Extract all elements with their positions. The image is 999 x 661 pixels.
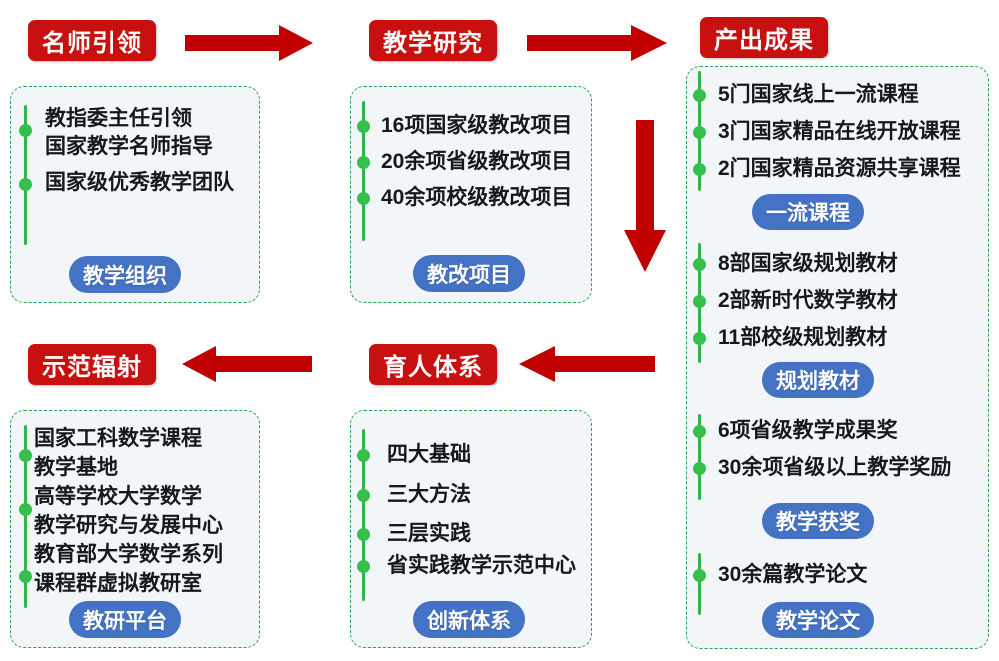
flow-diagram-canvas: 名师引领 教学研究 产出成果 示范辐射 育人体系 教指委主任引领 国 [0,0,999,661]
list-item: 2部新时代数学教材 [718,288,898,313]
chip-mentor[interactable]: 名师引领 [28,20,156,61]
timeline-dot [357,489,370,502]
badge-outcomes-papers[interactable]: 教学论文 [762,602,874,638]
timeline-dot [357,449,370,462]
list-item: 三层实践 [387,521,471,546]
card-mentor: 教指委主任引领 国家教学名师指导 国家级优秀教学团队 教学组织 [10,86,260,303]
list-item: 三大方法 [387,482,471,507]
arrow-outcomes-to-education-icon [519,345,655,383]
list-item: 11部校级规划教材 [718,325,887,350]
chip-research[interactable]: 教学研究 [369,20,497,61]
card-research: 16项国家级教改项目 20余项省级教改项目 40余项校级教改项目 教改项目 [350,86,592,303]
list-item: 3门国家精品在线开放课程 [718,119,961,144]
card-education: 四大基础 三大方法 三层实践 省实践教学示范中心 创新体系 [350,410,592,648]
list-item: 省实践教学示范中心 [387,553,576,578]
timeline-dot [693,295,706,308]
list-item: 四大基础 [387,442,471,467]
badge-research[interactable]: 教改项目 [413,255,525,292]
list-item: 教学研究与发展中心 [34,513,223,538]
timeline-dot [693,425,706,438]
card-demonstration: 国家工科数学课程 教学基地 高等学校大学数学 教学研究与发展中心 教育部大学数学… [10,410,260,648]
badge-demonstration[interactable]: 教研平台 [69,601,181,638]
list-item: 16项国家级教改项目 [381,113,572,138]
timeline-dot [19,124,32,137]
timeline-dot [693,163,706,176]
timeline-dot [19,570,32,583]
timeline-dot [357,528,370,541]
list-item: 40余项校级教改项目 [381,185,572,210]
timeline-dot [357,156,370,169]
timeline-dot [357,120,370,133]
card-outcomes: 5门国家线上一流课程 3门国家精品在线开放课程 2门国家精品资源共享课程 一流课… [686,66,989,649]
badge-education[interactable]: 创新体系 [413,601,525,638]
badge-outcomes-textbooks[interactable]: 规划教材 [762,362,874,398]
chip-demonstration[interactable]: 示范辐射 [28,344,156,385]
list-item: 教学基地 [34,455,118,480]
timeline-dot [19,449,32,462]
list-item: 高等学校大学数学 [34,484,202,509]
arrow-outcomes-down-icon [624,120,666,272]
list-item: 教育部大学数学系列 [34,542,223,567]
list-item: 国家教学名师指导 [45,134,213,159]
timeline-track [698,553,701,615]
timeline-dot [19,178,32,191]
chip-outcomes[interactable]: 产出成果 [700,17,828,58]
list-item: 国家级优秀教学团队 [45,170,234,195]
timeline-dot [693,332,706,345]
list-item: 30余项省级以上教学奖励 [718,455,951,480]
arrow-education-to-demonstration-icon [182,345,312,383]
badge-outcomes-courses[interactable]: 一流课程 [752,194,864,230]
list-item: 8部国家级规划教材 [718,251,898,276]
timeline-dot [693,258,706,271]
timeline-dot [693,462,706,475]
badge-outcomes-awards[interactable]: 教学获奖 [762,503,874,539]
badge-mentor[interactable]: 教学组织 [69,256,181,293]
chip-education[interactable]: 育人体系 [369,344,497,385]
list-item: 教指委主任引领 [45,106,192,131]
list-item: 30余篇教学论文 [718,562,867,587]
timeline-dot [693,569,706,582]
timeline-dot [357,192,370,205]
list-item: 国家工科数学课程 [34,426,202,451]
timeline-dot [693,89,706,102]
list-item: 课程群虚拟教研室 [34,571,202,596]
arrow-research-to-outcomes-icon [527,24,667,62]
timeline-dot [19,503,32,516]
arrow-mentor-to-research-icon [185,24,313,62]
timeline-dot [693,126,706,139]
list-item: 20余项省级教改项目 [381,149,572,174]
list-item: 6项省级教学成果奖 [718,418,898,443]
list-item: 5门国家线上一流课程 [718,82,919,107]
list-item: 2门国家精品资源共享课程 [718,156,961,181]
timeline-dot [357,560,370,573]
